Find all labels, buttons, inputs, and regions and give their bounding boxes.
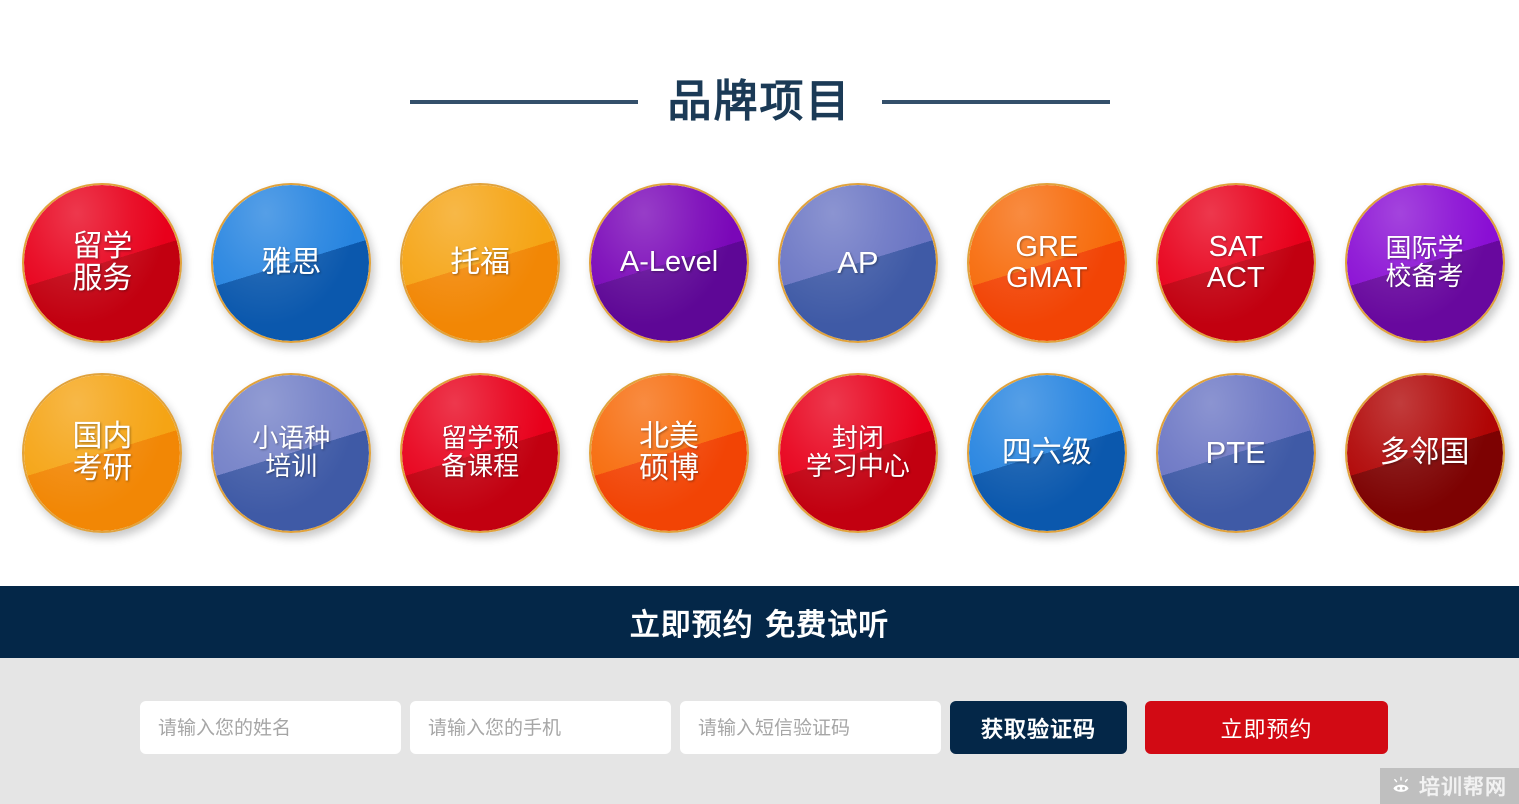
program-circle[interactable]: 托福 bbox=[400, 183, 560, 343]
get-verification-code-button[interactable]: 获取验证码 bbox=[950, 701, 1127, 754]
program-circle-label: 国内 考研 bbox=[64, 421, 140, 486]
program-circle-label: 封闭 学习中心 bbox=[798, 425, 918, 481]
program-cell: 多邻国 bbox=[1330, 373, 1519, 533]
program-circle[interactable]: A-Level bbox=[589, 183, 749, 343]
name-input[interactable] bbox=[140, 701, 401, 754]
program-circle[interactable]: 封闭 学习中心 bbox=[778, 373, 938, 533]
program-circle-label: 雅思 bbox=[253, 247, 329, 279]
program-circle[interactable]: 雅思 bbox=[211, 183, 371, 343]
title-rule-left bbox=[410, 100, 638, 104]
program-circle-label: 小语种 培训 bbox=[244, 425, 338, 481]
program-circle-label: 留学 服务 bbox=[64, 231, 140, 296]
program-cell: AP bbox=[764, 183, 953, 343]
program-circle-label: AP bbox=[829, 246, 886, 279]
site-watermark: 培训帮网 bbox=[1380, 768, 1519, 804]
program-circle[interactable]: 小语种 培训 bbox=[211, 373, 371, 533]
program-circle-label: 留学预 备课程 bbox=[433, 425, 527, 481]
program-circle[interactable]: AP bbox=[778, 183, 938, 343]
program-circle[interactable]: 四六级 bbox=[967, 373, 1127, 533]
program-cell: GRE GMAT bbox=[952, 183, 1141, 343]
booking-form-area: 获取验证码 立即预约 bbox=[0, 658, 1519, 804]
program-cell: PTE bbox=[1141, 373, 1330, 533]
program-circle[interactable]: 留学预 备课程 bbox=[400, 373, 560, 533]
program-cell: A-Level bbox=[575, 183, 764, 343]
program-circle-label: 四六级 bbox=[994, 437, 1100, 469]
program-grid: 留学 服务雅思托福A-LevelAPGRE GMATSAT ACT国际学 校备考… bbox=[0, 183, 1519, 563]
program-circle[interactable]: PTE bbox=[1156, 373, 1316, 533]
program-cell: 托福 bbox=[386, 183, 575, 343]
title-rule-right bbox=[882, 100, 1110, 104]
submit-booking-button[interactable]: 立即预约 bbox=[1145, 701, 1388, 754]
sms-code-input[interactable] bbox=[680, 701, 941, 754]
program-cell: 留学预 备课程 bbox=[386, 373, 575, 533]
program-cell: 雅思 bbox=[197, 183, 386, 343]
program-circle-label: 国际学 校备考 bbox=[1378, 235, 1472, 291]
program-row-2: 国内 考研小语种 培训留学预 备课程北美 硕博封闭 学习中心四六级PTE多邻国 bbox=[0, 373, 1519, 563]
program-circle[interactable]: 北美 硕博 bbox=[589, 373, 749, 533]
program-row-1: 留学 服务雅思托福A-LevelAPGRE GMATSAT ACT国际学 校备考 bbox=[0, 183, 1519, 373]
booking-bar-title: 立即预约 免费试听 bbox=[630, 600, 889, 644]
program-circle[interactable]: GRE GMAT bbox=[967, 183, 1127, 343]
program-circle[interactable]: 留学 服务 bbox=[22, 183, 182, 343]
program-circle-label: A-Level bbox=[612, 247, 726, 278]
program-circle[interactable]: 国际学 校备考 bbox=[1345, 183, 1505, 343]
program-circle[interactable]: SAT ACT bbox=[1156, 183, 1316, 343]
phone-input[interactable] bbox=[410, 701, 671, 754]
program-cell: 北美 硕博 bbox=[575, 373, 764, 533]
booking-bar: 立即预约 免费试听 bbox=[0, 586, 1519, 658]
program-circle[interactable]: 国内 考研 bbox=[22, 373, 182, 533]
program-circle-label: 多邻国 bbox=[1372, 437, 1478, 469]
program-cell: 留学 服务 bbox=[8, 183, 197, 343]
program-circle-label: 北美 硕博 bbox=[631, 421, 707, 486]
booking-form: 获取验证码 立即预约 bbox=[140, 701, 1388, 754]
program-circle-label: GRE GMAT bbox=[998, 232, 1096, 295]
program-circle-label: PTE bbox=[1198, 436, 1274, 469]
page-title: 品牌项目 bbox=[668, 80, 852, 124]
program-cell: 国内 考研 bbox=[8, 373, 197, 533]
program-cell: 四六级 bbox=[952, 373, 1141, 533]
program-circle-label: SAT ACT bbox=[1199, 232, 1273, 295]
page-title-row: 品牌项目 bbox=[0, 62, 1519, 142]
program-cell: 国际学 校备考 bbox=[1330, 183, 1519, 343]
program-cell: 封闭 学习中心 bbox=[764, 373, 953, 533]
program-cell: SAT ACT bbox=[1141, 183, 1330, 343]
program-cell: 小语种 培训 bbox=[197, 373, 386, 533]
watermark-label: 培训帮网 bbox=[1419, 771, 1507, 801]
program-circle-label: 托福 bbox=[442, 247, 518, 279]
eye-sun-icon bbox=[1390, 775, 1412, 797]
program-circle[interactable]: 多邻国 bbox=[1345, 373, 1505, 533]
